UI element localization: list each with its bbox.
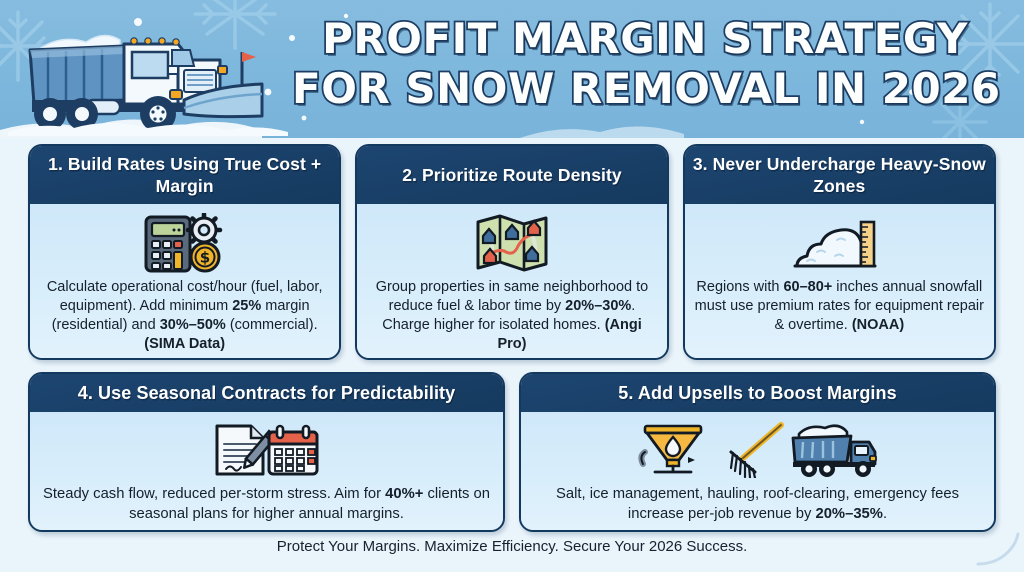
card-3-text: Regions with 60–80+ inches annual snowfa… <box>695 278 984 335</box>
card-route-density[interactable]: 2. Prioritize Route Density <box>355 144 668 360</box>
card-4-title: 4. Use Seasonal Contracts for Predictabi… <box>30 374 503 412</box>
card-build-rates[interactable]: 1. Build Rates Using True Cost + Margin <box>28 144 341 360</box>
card-1-text: Calculate operational cost/hour (fuel, l… <box>40 278 329 354</box>
folded-map-houses-route-icon <box>474 212 550 274</box>
signed-contract-calendar-icon <box>211 420 323 480</box>
snow-plow-truck-illustration <box>8 8 288 136</box>
svg-text:$: $ <box>199 249 209 267</box>
card-2-title: 2. Prioritize Route Density <box>357 146 666 204</box>
card-1-body: $ Calculate operational cost/hour (fuel,… <box>30 204 339 360</box>
card-4-body: Steady cash flow, reduced per-storm stre… <box>30 412 503 532</box>
page-title: PROFIT MARGIN STRATEGY FOR SNOW REMOVAL … <box>292 14 998 114</box>
card-4-text: Steady cash flow, reduced per-storm stre… <box>40 484 493 524</box>
card-3-body: Regions with 60–80+ inches annual snowfa… <box>685 204 994 358</box>
calculator-gear-coin-icon: $ <box>142 212 228 274</box>
snow-pile-ruler-icon <box>791 212 887 274</box>
header-banner: PROFIT MARGIN STRATEGY FOR SNOW REMOVAL … <box>0 0 1024 138</box>
card-upsells[interactable]: 5. Add Upsells to Boost Margins <box>519 372 996 532</box>
cards-row-top: 1. Build Rates Using True Cost + Margin <box>0 144 1024 360</box>
card-5-body: Salt, ice management, hauling, roof-clea… <box>521 412 994 532</box>
footer-tagline: Protect Your Margins. Maximize Efficienc… <box>0 538 1024 555</box>
card-5-title: 5. Add Upsells to Boost Margins <box>521 374 994 412</box>
salt-spreader-rake-dumptruck-icon <box>633 420 883 480</box>
title-line-1: PROFIT MARGIN STRATEGY <box>292 14 998 64</box>
card-1-title: 1. Build Rates Using True Cost + Margin <box>30 146 339 204</box>
card-seasonal-contracts[interactable]: 4. Use Seasonal Contracts for Predictabi… <box>28 372 505 532</box>
card-2-text: Group properties in same neighborhood to… <box>367 278 656 354</box>
title-line-2: FOR SNOW REMOVAL IN 2026 <box>292 64 998 114</box>
card-5-text: Salt, ice management, hauling, roof-clea… <box>531 484 984 524</box>
card-2-body: Group properties in same neighborhood to… <box>357 204 666 360</box>
card-3-title: 3. Never Undercharge Heavy-Snow Zones <box>685 146 994 204</box>
cards-row-bottom: 4. Use Seasonal Contracts for Predictabi… <box>0 372 1024 532</box>
card-heavy-snow-zones[interactable]: 3. Never Undercharge Heavy-Snow Zones <box>683 144 996 360</box>
